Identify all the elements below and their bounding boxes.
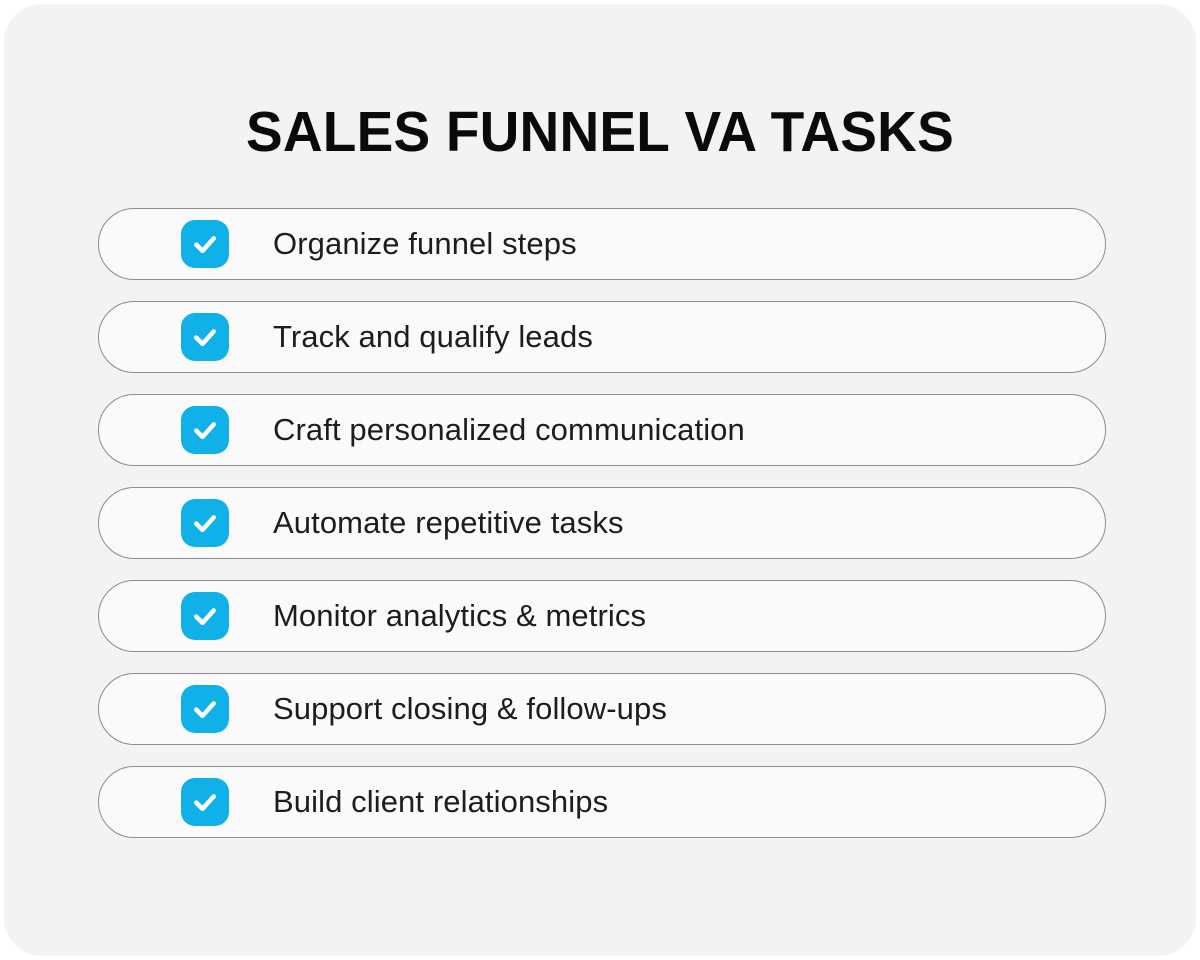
- task-label: Support closing & follow-ups: [273, 691, 667, 727]
- task-label: Organize funnel steps: [273, 226, 577, 262]
- checkbox-checked[interactable]: [181, 499, 229, 547]
- task-label: Build client relationships: [273, 784, 608, 820]
- task-row[interactable]: Support closing & follow-ups: [98, 673, 1106, 745]
- checkbox-checked[interactable]: [181, 685, 229, 733]
- task-row[interactable]: Build client relationships: [98, 766, 1106, 838]
- checkbox-checked[interactable]: [181, 406, 229, 454]
- check-icon: [190, 787, 220, 817]
- task-row[interactable]: Craft personalized communication: [98, 394, 1106, 466]
- task-row[interactable]: Automate repetitive tasks: [98, 487, 1106, 559]
- check-icon: [190, 508, 220, 538]
- checkbox-checked[interactable]: [181, 313, 229, 361]
- task-card: SALES FUNNEL VA TASKS Organize funnel st…: [4, 4, 1196, 956]
- check-icon: [190, 415, 220, 445]
- task-label: Craft personalized communication: [273, 412, 745, 448]
- checkbox-checked[interactable]: [181, 778, 229, 826]
- check-icon: [190, 694, 220, 724]
- task-list: Organize funnel steps Track and qualify …: [98, 208, 1106, 838]
- task-label: Automate repetitive tasks: [273, 505, 624, 541]
- page-root: SALES FUNNEL VA TASKS Organize funnel st…: [0, 0, 1200, 960]
- check-icon: [190, 229, 220, 259]
- task-row[interactable]: Monitor analytics & metrics: [98, 580, 1106, 652]
- check-icon: [190, 322, 220, 352]
- task-row[interactable]: Organize funnel steps: [98, 208, 1106, 280]
- task-row[interactable]: Track and qualify leads: [98, 301, 1106, 373]
- task-label: Track and qualify leads: [273, 319, 593, 355]
- check-icon: [190, 601, 220, 631]
- checkbox-checked[interactable]: [181, 220, 229, 268]
- checkbox-checked[interactable]: [181, 592, 229, 640]
- page-title: SALES FUNNEL VA TASKS: [25, 100, 1175, 164]
- task-label: Monitor analytics & metrics: [273, 598, 646, 634]
